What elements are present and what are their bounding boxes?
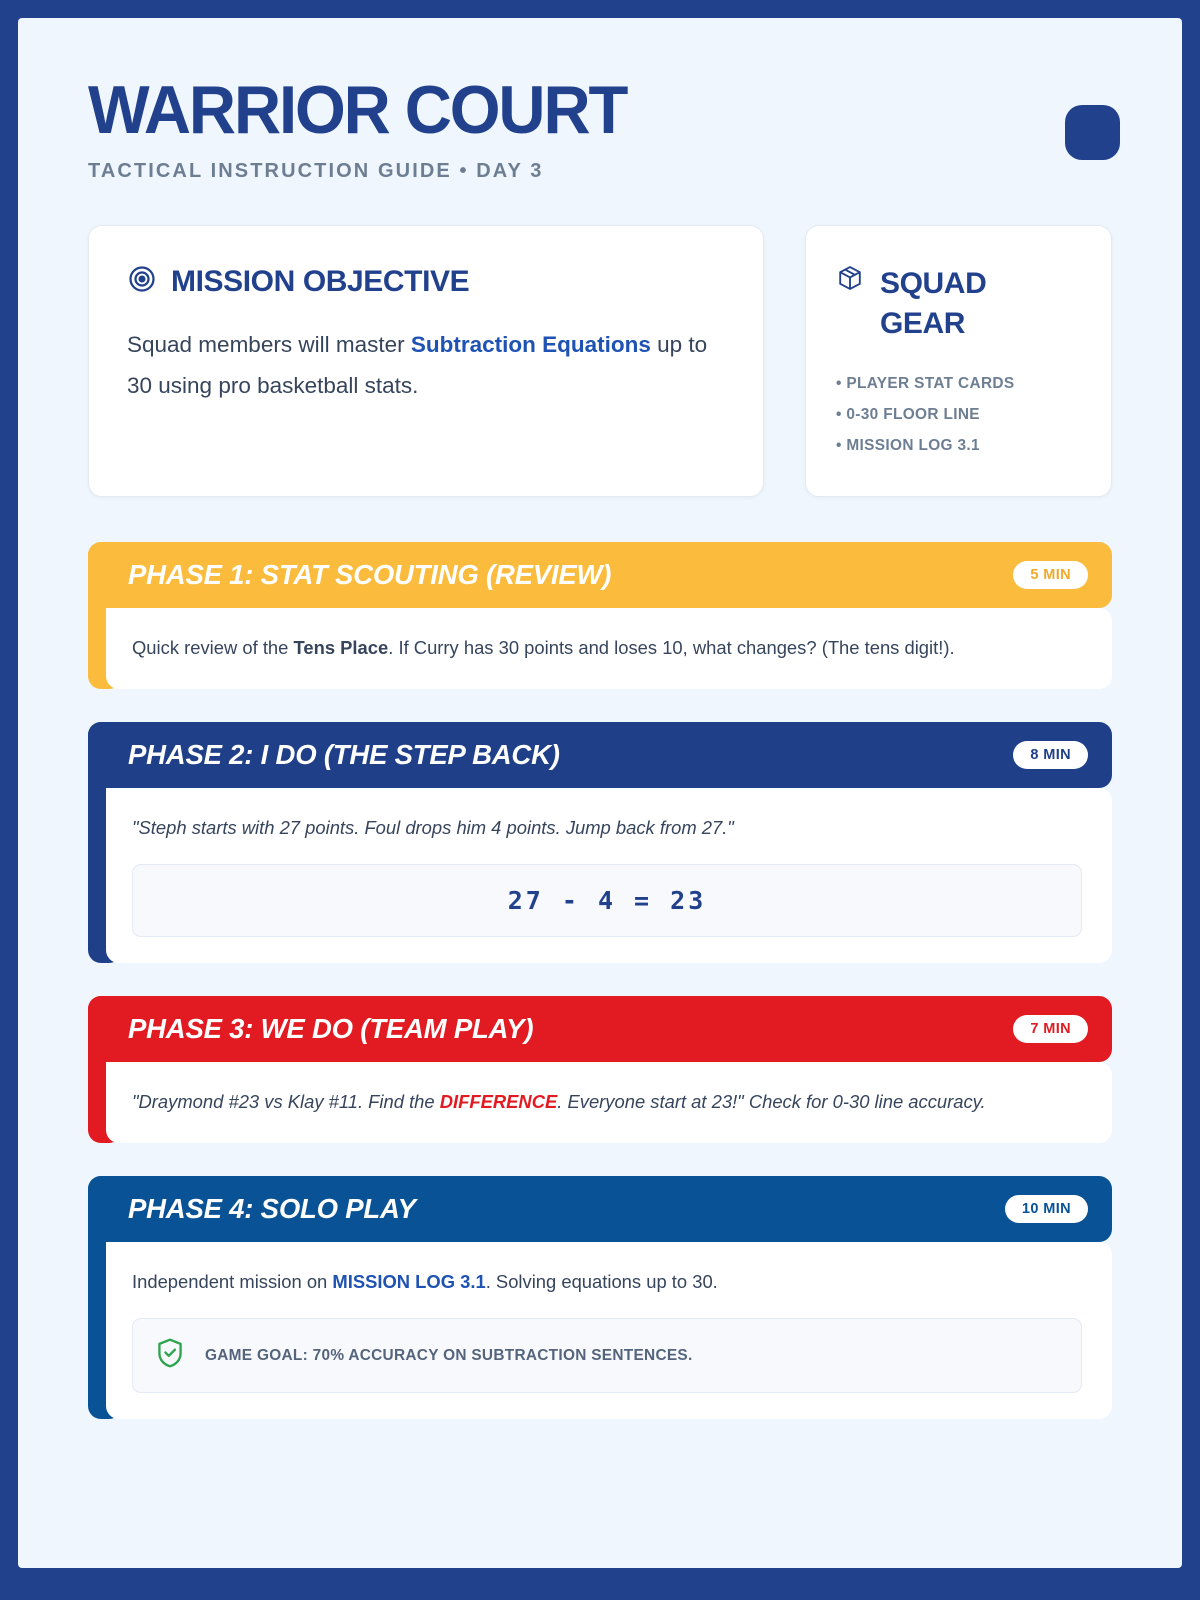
phase-text-bold: Tens Place <box>294 637 389 658</box>
squad-gear-card: SQUAD GEAR PLAYER STAT CARDS 0-30 FLOOR … <box>805 225 1112 497</box>
phase-header-3: PHASE 3: WE DO (TEAM PLAY) 7 MIN <box>88 996 1112 1062</box>
phase-text-after: . Everyone start at 23!" Check for 0-30 … <box>557 1091 985 1112</box>
phase-quote-text: "Steph starts with 27 points. Foul drops… <box>132 814 1082 843</box>
phase-body-4: Independent mission on MISSION LOG 3.1. … <box>106 1242 1112 1420</box>
rounded-square-badge-icon <box>1065 105 1120 160</box>
phase-duration-badge: 8 MIN <box>1013 741 1088 769</box>
phase-title: PHASE 2: I DO (THE STEP BACK) <box>128 739 560 771</box>
shield-check-icon <box>155 1337 185 1374</box>
phase-body-3: "Draymond #23 vs Klay #11. Find the DIFF… <box>106 1062 1112 1143</box>
phase-card-3: PHASE 3: WE DO (TEAM PLAY) 7 MIN "Draymo… <box>88 996 1112 1143</box>
phase-card-2: PHASE 2: I DO (THE STEP BACK) 8 MIN "Ste… <box>88 722 1112 964</box>
objective-text-highlight: Subtraction Equations <box>411 332 651 357</box>
phases-list: PHASE 1: STAT SCOUTING (REVIEW) 5 MIN Qu… <box>18 497 1182 1419</box>
squad-gear-list: PLAYER STAT CARDS 0-30 FLOOR LINE MISSIO… <box>836 369 1081 461</box>
page-frame: WARRIOR COURT TACTICAL INSTRUCTION GUIDE… <box>18 18 1182 1568</box>
phase-text-highlight: DIFFERENCE <box>440 1091 558 1112</box>
mission-objective-card: MISSION OBJECTIVE Squad members will mas… <box>88 225 764 497</box>
phase-card-1: PHASE 1: STAT SCOUTING (REVIEW) 5 MIN Qu… <box>88 542 1112 689</box>
phase-title: PHASE 4: SOLO PLAY <box>128 1193 416 1225</box>
phase-body-1: Quick review of the Tens Place. If Curry… <box>106 608 1112 689</box>
summary-cards-row: MISSION OBJECTIVE Squad members will mas… <box>18 183 1182 497</box>
page-header: WARRIOR COURT TACTICAL INSTRUCTION GUIDE… <box>18 18 1182 183</box>
mission-objective-text: Squad members will master Subtraction Eq… <box>127 325 729 407</box>
phase-body-2: "Steph starts with 27 points. Foul drops… <box>106 788 1112 964</box>
page-subtitle: TACTICAL INSTRUCTION GUIDE • DAY 3 <box>88 160 1112 183</box>
phase-duration-badge: 10 MIN <box>1005 1195 1088 1223</box>
squad-gear-title: SQUAD GEAR <box>880 264 1040 343</box>
phase-body-text: Independent mission on MISSION LOG 3.1. … <box>132 1268 1082 1297</box>
target-icon <box>127 264 157 299</box>
phase-text-before: Quick review of the <box>132 637 294 658</box>
phase-duration-badge: 7 MIN <box>1013 1015 1088 1043</box>
phase-text-after: . If Curry has 30 points and loses 10, w… <box>388 637 954 658</box>
equation-text: 27 - 4 = 23 <box>508 886 707 915</box>
objective-text-before: Squad members will master <box>127 332 411 357</box>
phase-duration-badge: 5 MIN <box>1013 561 1088 589</box>
phase-body-text: "Draymond #23 vs Klay #11. Find the DIFF… <box>132 1088 1082 1117</box>
phase-text-before: Independent mission on <box>132 1271 332 1292</box>
game-goal-box: GAME GOAL: 70% ACCURACY ON SUBTRACTION S… <box>132 1318 1082 1393</box>
mission-objective-header: MISSION OBJECTIVE <box>127 264 729 299</box>
game-goal-text: GAME GOAL: 70% ACCURACY ON SUBTRACTION S… <box>205 1347 693 1365</box>
page-title: WARRIOR COURT <box>88 76 1071 144</box>
phase-text-after: . Solving equations up to 30. <box>486 1271 718 1292</box>
phase-title: PHASE 3: WE DO (TEAM PLAY) <box>128 1013 533 1045</box>
list-item: 0-30 FLOOR LINE <box>836 400 1081 431</box>
phase-body-text: Quick review of the Tens Place. If Curry… <box>132 634 1082 663</box>
phase-card-4: PHASE 4: SOLO PLAY 10 MIN Independent mi… <box>88 1176 1112 1420</box>
equation-box: 27 - 4 = 23 <box>132 864 1082 937</box>
phase-title: PHASE 1: STAT SCOUTING (REVIEW) <box>128 559 611 591</box>
phase-text-highlight: MISSION LOG 3.1 <box>332 1271 485 1292</box>
phase-header-4: PHASE 4: SOLO PLAY 10 MIN <box>88 1176 1112 1242</box>
phase-header-2: PHASE 2: I DO (THE STEP BACK) 8 MIN <box>88 722 1112 788</box>
package-box-icon <box>836 264 864 297</box>
list-item: PLAYER STAT CARDS <box>836 369 1081 400</box>
squad-gear-header: SQUAD GEAR <box>836 264 1081 343</box>
mission-objective-title: MISSION OBJECTIVE <box>171 265 469 299</box>
list-item: MISSION LOG 3.1 <box>836 431 1081 462</box>
phase-text-before: "Draymond #23 vs Klay #11. Find the <box>132 1091 440 1112</box>
phase-header-1: PHASE 1: STAT SCOUTING (REVIEW) 5 MIN <box>88 542 1112 608</box>
